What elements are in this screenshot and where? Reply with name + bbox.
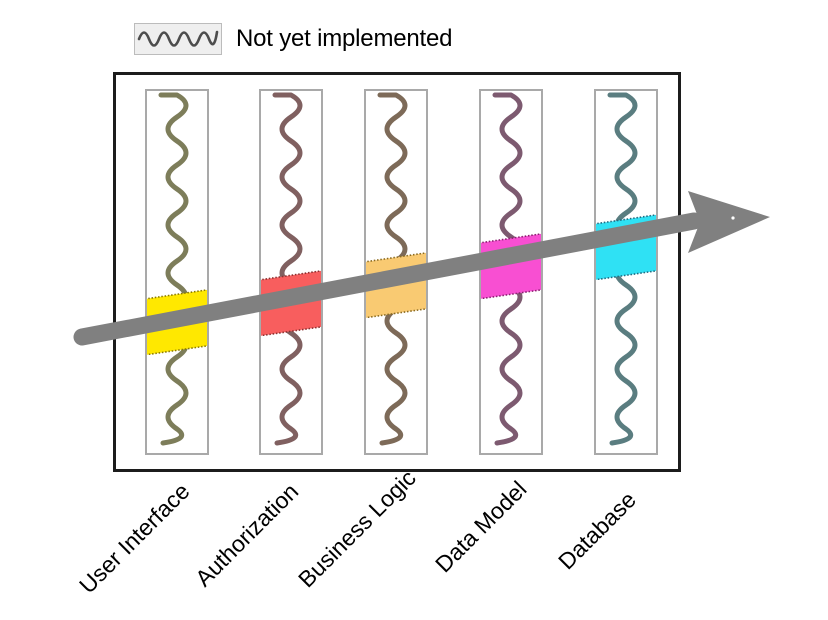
- axis-label-authorization: Authorization: [190, 478, 304, 592]
- diagram-frame: [113, 72, 681, 472]
- axis-label-business-logic: Business Logic: [293, 465, 421, 593]
- axis-label-user-interface: User Interface: [74, 478, 195, 599]
- axis-label-data-model: Data Model: [430, 476, 532, 578]
- legend-wave-icon: [135, 24, 221, 54]
- legend-label: Not yet implemented: [236, 25, 452, 53]
- axis-label-database: Database: [553, 486, 642, 575]
- legend: Not yet implemented: [134, 23, 452, 55]
- wave-pattern-swatch-icon: [134, 23, 222, 55]
